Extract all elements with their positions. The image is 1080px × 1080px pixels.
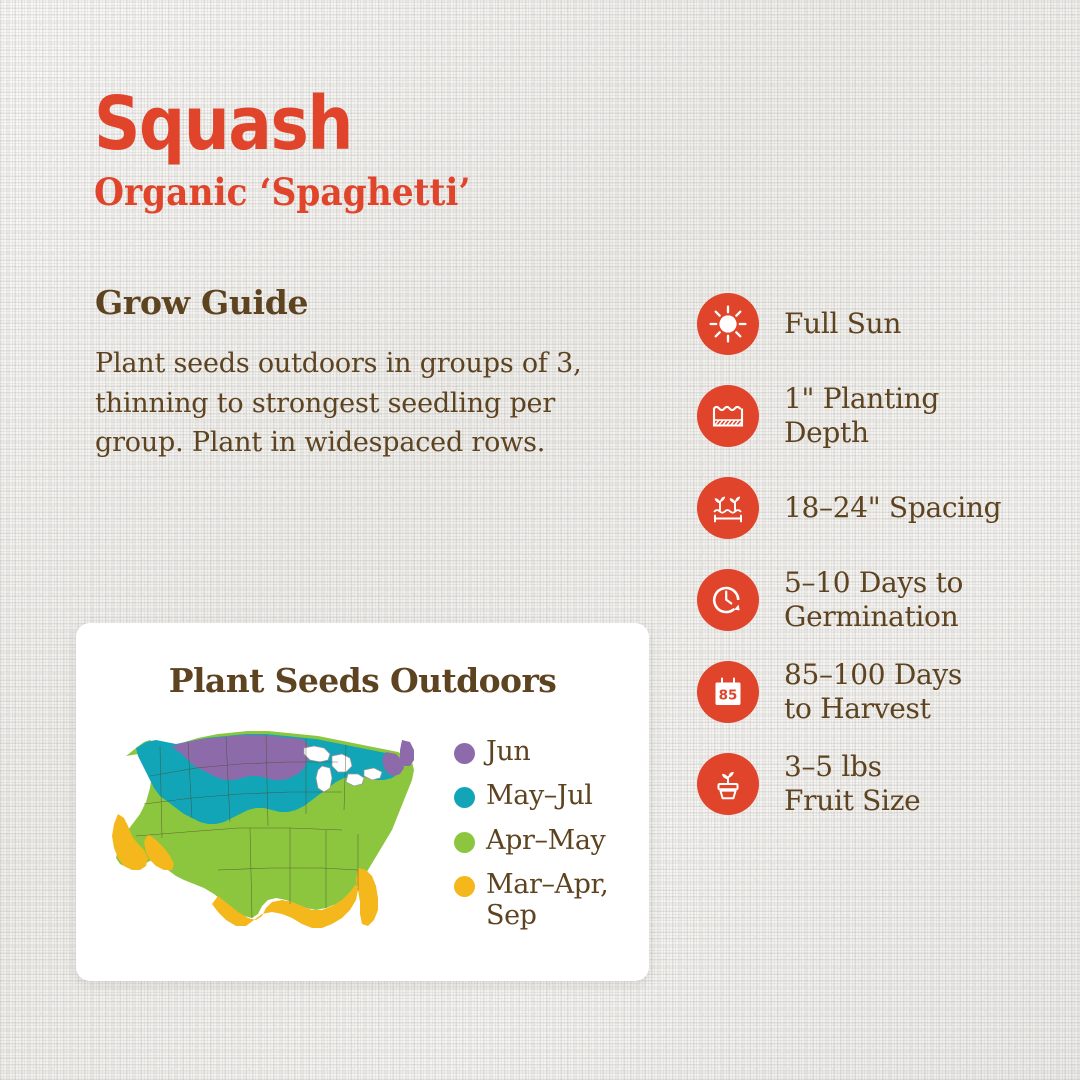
fact-row-spacing: 18–24" Spacing [697, 469, 1057, 547]
fact-label-full-sun: Full Sun [784, 307, 901, 341]
grow-guide-heading: Grow Guide [95, 283, 625, 322]
grow-guide-body-text: Plant seeds outdoors in groups of 3, thi… [95, 344, 625, 463]
grow-guide-section: Grow Guide Plant seeds outdoors in group… [95, 283, 625, 463]
usa-planting-zone-map [100, 718, 440, 936]
legend-dot-may-jul [454, 787, 475, 808]
calendar-icon-number: 85 [719, 688, 738, 704]
page-title: Squash [94, 88, 446, 161]
calendar-icon: 85 [697, 661, 759, 723]
legend-item-mar-apr-sep: Mar–Apr, Sep [454, 869, 608, 932]
map-legend: Jun May–Jul Apr–May Mar–Apr, Sep [454, 718, 608, 945]
fact-label-harvest: 85–100 Days to Harvest [784, 658, 962, 726]
legend-label-may-jul: May–Jul [486, 780, 593, 811]
fact-label-fruit-size: 3–5 lbs Fruit Size [784, 750, 920, 818]
legend-label-apr-may: Apr–May [486, 825, 605, 856]
product-subtitle: Organic ‘Spaghetti’ [94, 173, 470, 212]
legend-item-jun: Jun [454, 736, 608, 767]
fact-row-full-sun: Full Sun [697, 285, 1057, 363]
fact-label-germination: 5–10 Days to Germination [784, 566, 963, 634]
fact-row-harvest: 85 85–100 Days to Harvest [697, 653, 1057, 731]
legend-dot-mar-apr-sep [454, 876, 475, 897]
sun-icon [697, 293, 759, 355]
fact-label-planting-depth: 1" Planting Depth [784, 382, 939, 450]
grow-facts-list: Full Sun [697, 285, 1057, 837]
map-card-body: Jun May–Jul Apr–May Mar–Apr, Sep [76, 700, 649, 945]
legend-dot-apr-may [454, 832, 475, 853]
seed-packet-grow-guide-page: Squash Organic ‘Spaghetti’ Grow Guide Pl… [0, 0, 1080, 1080]
legend-label-mar-apr-sep: Mar–Apr, Sep [486, 869, 608, 932]
legend-label-jun: Jun [486, 736, 530, 767]
map-zone-jun-maine [400, 740, 414, 766]
spacing-icon [697, 477, 759, 539]
fact-label-spacing: 18–24" Spacing [784, 491, 1001, 525]
plant-seeds-outdoors-card: Plant Seeds Outdoors [76, 623, 649, 981]
legend-item-apr-may: Apr–May [454, 825, 608, 856]
fact-row-germination: 5–10 Days to Germination [697, 561, 1057, 639]
map-card-title: Plant Seeds Outdoors [76, 623, 649, 700]
header: Squash Organic ‘Spaghetti’ [94, 88, 499, 211]
clock-icon [697, 569, 759, 631]
fact-row-fruit-size: 3–5 lbs Fruit Size [697, 745, 1057, 823]
fact-row-planting-depth: 1" Planting Depth [697, 377, 1057, 455]
planting-depth-icon [697, 385, 759, 447]
legend-dot-jun [454, 743, 475, 764]
map-zone-mar-apr-sep-florida [356, 868, 378, 926]
potted-plant-icon [697, 753, 759, 815]
legend-item-may-jul: May–Jul [454, 780, 608, 811]
